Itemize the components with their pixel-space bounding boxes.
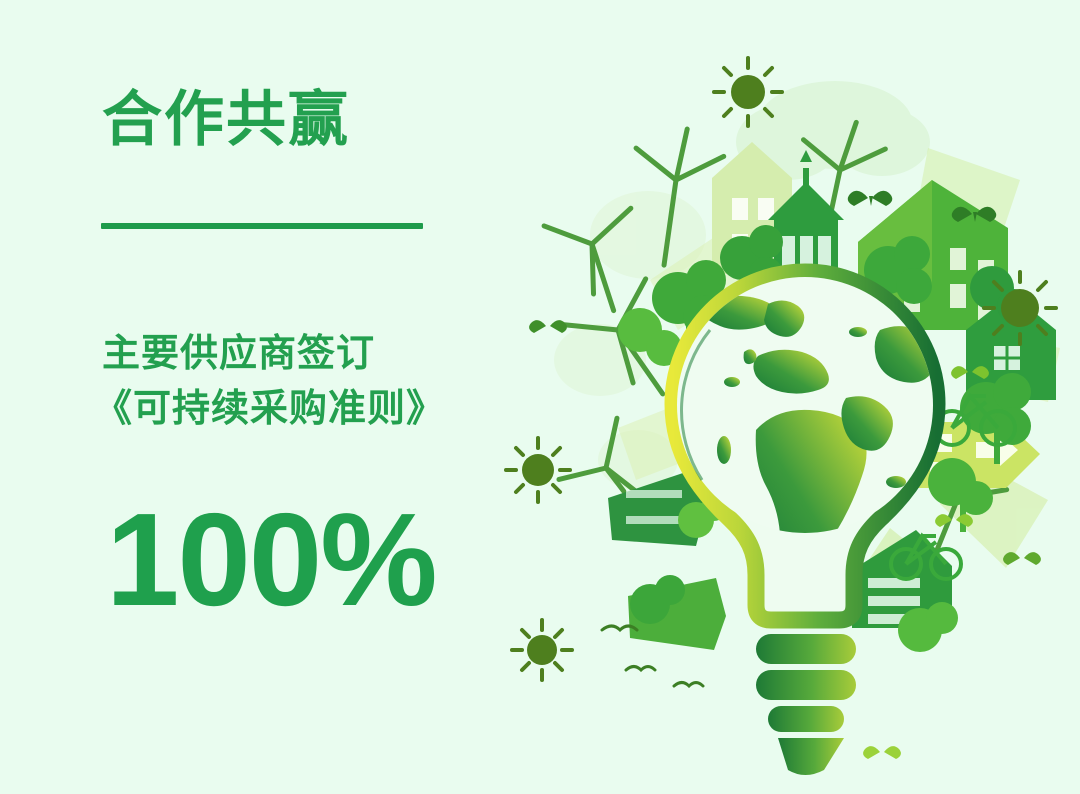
eco-lightbulb-earth-illustration xyxy=(500,30,1080,794)
butterfly-icon xyxy=(863,746,901,759)
subtitle-block: 主要供应商签订 《可持续采购准则》 xyxy=(102,327,445,437)
subtitle-line-2: 《可持续采购准则》 xyxy=(94,382,445,437)
butterfly-icon xyxy=(529,320,567,333)
butterfly-icon xyxy=(848,191,893,206)
metric-value: 100% xyxy=(106,494,436,626)
text-column: 合作共赢 主要供应商签订 《可持续采购准则》 100% xyxy=(100,0,530,794)
sun-icon xyxy=(506,438,570,502)
sun-icon xyxy=(512,620,572,680)
butterfly-icon xyxy=(1003,552,1041,565)
sun-icon xyxy=(984,272,1056,344)
earth-globe xyxy=(677,277,937,578)
page-title: 合作共赢 xyxy=(102,88,350,151)
title-divider xyxy=(101,223,423,229)
bulb-base xyxy=(756,634,856,775)
sun-icon xyxy=(714,58,782,126)
subtitle-line-1: 主要供应商签订 xyxy=(102,333,375,375)
infographic-slide: 合作共赢 主要供应商签订 《可持续采购准则》 100% xyxy=(0,0,1080,794)
